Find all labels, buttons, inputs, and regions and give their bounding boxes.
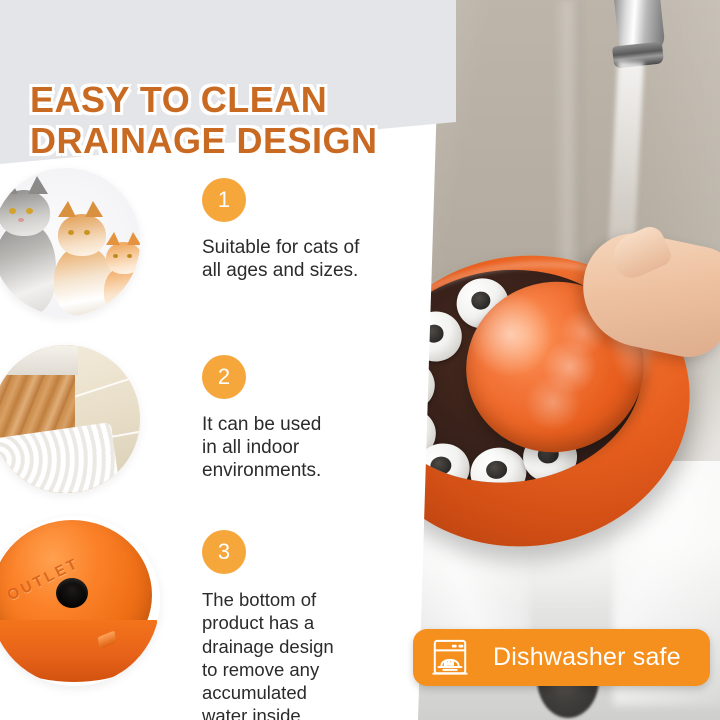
headline-line-1: EASY TO CLEAN [30, 79, 327, 120]
feature-2-description: It can be used in all indoor environment… [202, 413, 402, 483]
product-infographic: EASY TO CLEAN DRAINAGE DESIGN [0, 0, 720, 720]
feature-3-description: The bottom of product has a drainage des… [202, 588, 402, 720]
feature-1-text-block: 1 Suitable for cats of all ages and size… [202, 168, 402, 282]
three-cats-illustration [0, 168, 140, 316]
feature-3-text-block: 3 The bottom of product has a drainage d… [202, 516, 402, 720]
outlet-cap-illustration: OUTLET [0, 516, 160, 686]
headline-line-2: DRAINAGE DESIGN [30, 120, 430, 161]
feature-3-image: OUTLET [0, 516, 160, 686]
feature-item-3: OUTLET 3 The bottom of product has a dra… [0, 516, 402, 720]
feature-item-2: 2 It can be used in all indoor environme… [0, 345, 402, 493]
status-badge: Dishwasher safe [413, 629, 710, 686]
badge-label: Dishwasher safe [493, 643, 681, 672]
indoor-floors-illustration [0, 345, 140, 493]
feature-1-number-badge: 1 [202, 178, 246, 222]
feature-2-text-block: 2 It can be used in all indoor environme… [202, 345, 402, 483]
feature-3-number-badge: 3 [202, 530, 246, 574]
feature-1-image [0, 168, 140, 316]
feature-item-1: 1 Suitable for cats of all ages and size… [0, 168, 402, 316]
feature-2-number-badge: 2 [202, 355, 246, 399]
drain-hole [56, 578, 88, 608]
dishwasher-icon [431, 638, 469, 678]
feature-1-description: Suitable for cats of all ages and sizes. [202, 236, 402, 282]
baseboard [0, 345, 78, 375]
feature-2-image [0, 345, 140, 493]
